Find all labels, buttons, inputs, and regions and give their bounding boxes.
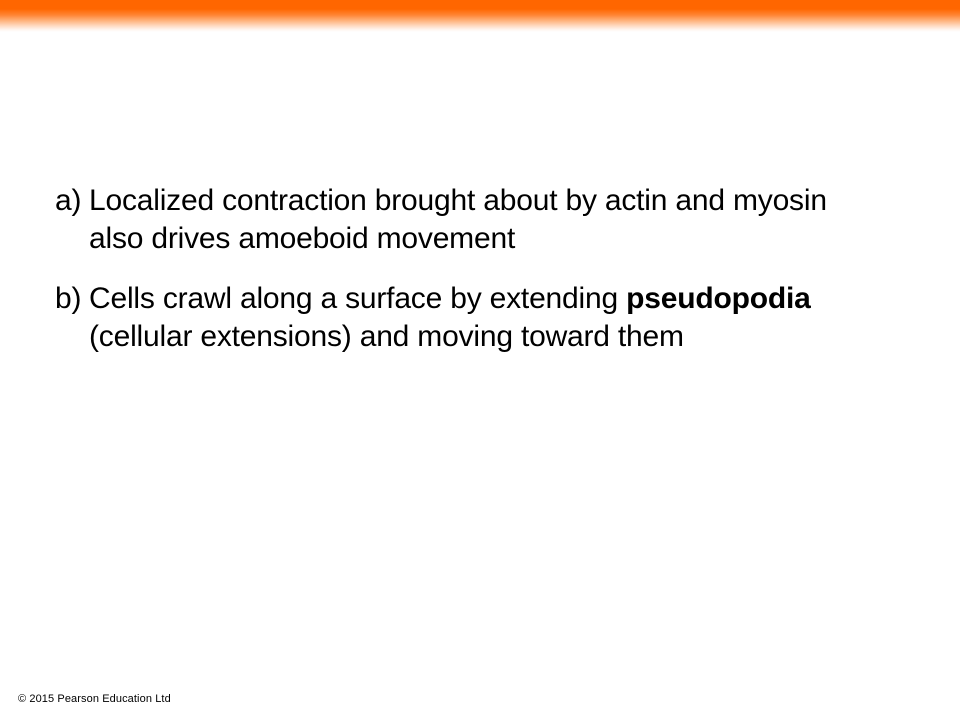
- list-item: a) Localized contraction brought about b…: [55, 182, 855, 258]
- banner-solid-band: [0, 0, 960, 9]
- list-item: b) Cells crawl along a surface by extend…: [55, 280, 855, 356]
- list-item-text: Cells crawl along a surface by extending…: [89, 280, 849, 356]
- list-item-keyword-pseudopodia: pseudopodia: [626, 282, 810, 315]
- top-orange-banner: [0, 0, 960, 32]
- list-item-text-segment: (cellular extensions) and moving toward …: [89, 320, 684, 353]
- list-item-marker: b): [55, 280, 89, 318]
- copyright-notice: © 2015 Pearson Education Ltd: [18, 692, 171, 706]
- banner-gradient-fade: [0, 9, 960, 32]
- slide-canvas: a) Localized contraction brought about b…: [0, 0, 960, 720]
- list-item-text-segment: Cells crawl along a surface by extending: [89, 282, 626, 315]
- list-item-text: Localized contraction brought about by a…: [89, 182, 849, 258]
- slide-body: a) Localized contraction brought about b…: [55, 182, 855, 356]
- list-item-text-segment: Localized contraction brought about by a…: [89, 184, 827, 255]
- list-item-marker: a): [55, 182, 89, 220]
